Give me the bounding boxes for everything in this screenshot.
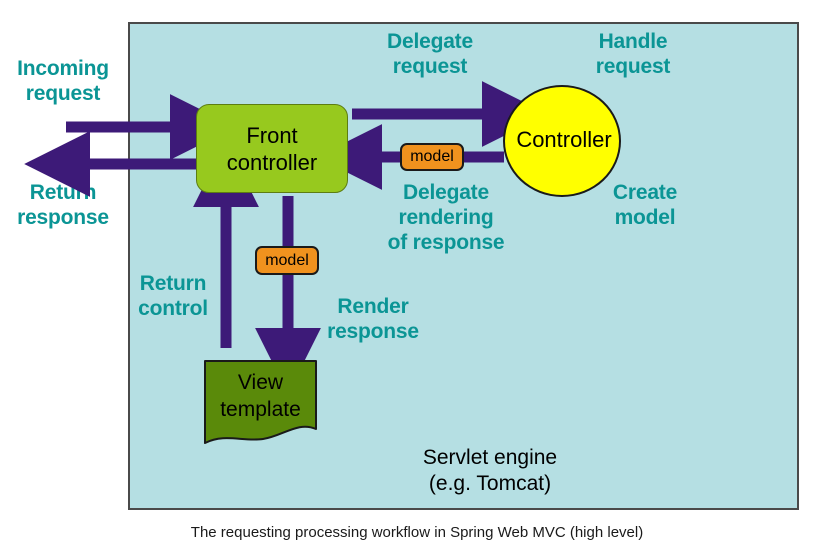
label-render-response: Render response [312, 294, 434, 344]
label-return-control: Return control [118, 271, 228, 321]
model-badge-vertical-label: model [265, 252, 309, 270]
label-return-response: Return response [0, 180, 126, 230]
model-badge-horizontal[interactable]: model [400, 143, 464, 171]
label-handle-request: Handle request [572, 29, 694, 79]
label-incoming-request: Incoming request [0, 56, 126, 106]
label-delegate-rendering: Delegate rendering of response [372, 180, 520, 255]
model-badge-vertical[interactable]: model [255, 246, 319, 275]
label-servlet-engine: Servlet engine (e.g. Tomcat) [330, 445, 650, 497]
node-controller[interactable]: Controller [503, 85, 621, 197]
diagram-caption: The requesting processing workflow in Sp… [0, 524, 834, 541]
view-template-label: View template [203, 369, 318, 423]
node-view-template[interactable]: View template [203, 359, 318, 445]
node-front-controller[interactable]: Front controller [196, 104, 348, 193]
controller-label: Controller [502, 127, 626, 153]
label-create-model: Create model [585, 180, 705, 230]
diagram-canvas: Front controller Controller View templat… [0, 0, 834, 556]
front-controller-label: Front controller [227, 122, 317, 176]
label-delegate-request: Delegate request [365, 29, 495, 79]
model-badge-horizontal-label: model [410, 148, 454, 166]
